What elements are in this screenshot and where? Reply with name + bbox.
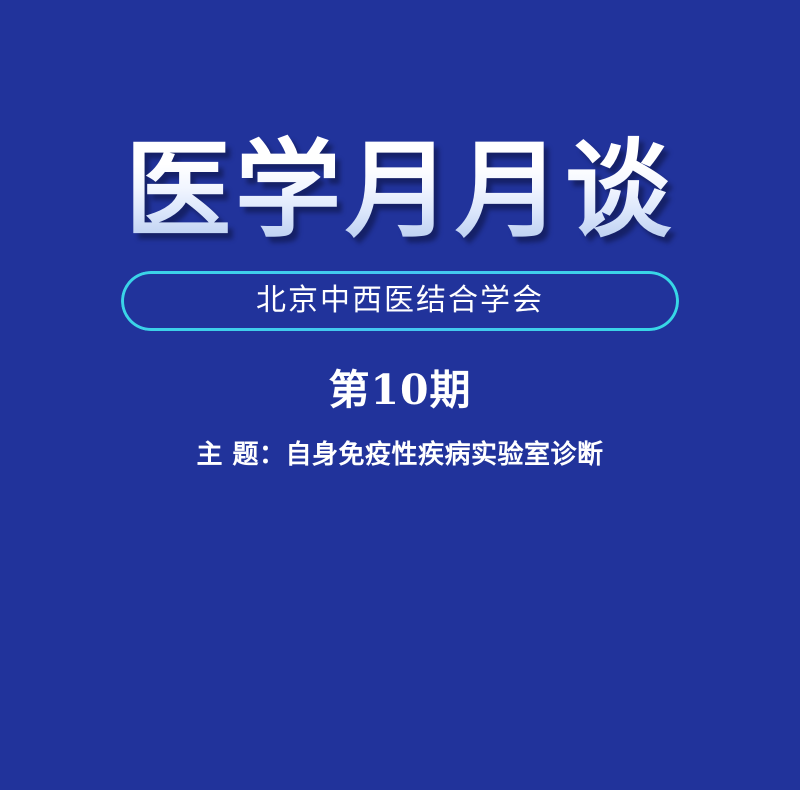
title-stack: 医学月月谈 医学月月谈 [125,133,675,247]
poster-canvas: 医学月月谈 医学月月谈 北京中西医结合学会 第10期 主 题：自身免疫性疾病实验… [0,0,800,790]
issue-number: 第10期 [0,366,800,414]
organization-name: 北京中西医结合学会 [256,286,544,316]
poster-lower-blank-area [0,490,800,790]
title-text: 医学月月谈 [125,127,675,252]
topic-line: 主 题：自身免疫性疾病实验室诊断 [0,440,800,471]
organization-pill-row: 北京中西医结合学会 [0,271,800,331]
poster-title: 医学月月谈 医学月月谈 [0,128,800,252]
organization-pill: 北京中西医结合学会 [121,271,679,331]
